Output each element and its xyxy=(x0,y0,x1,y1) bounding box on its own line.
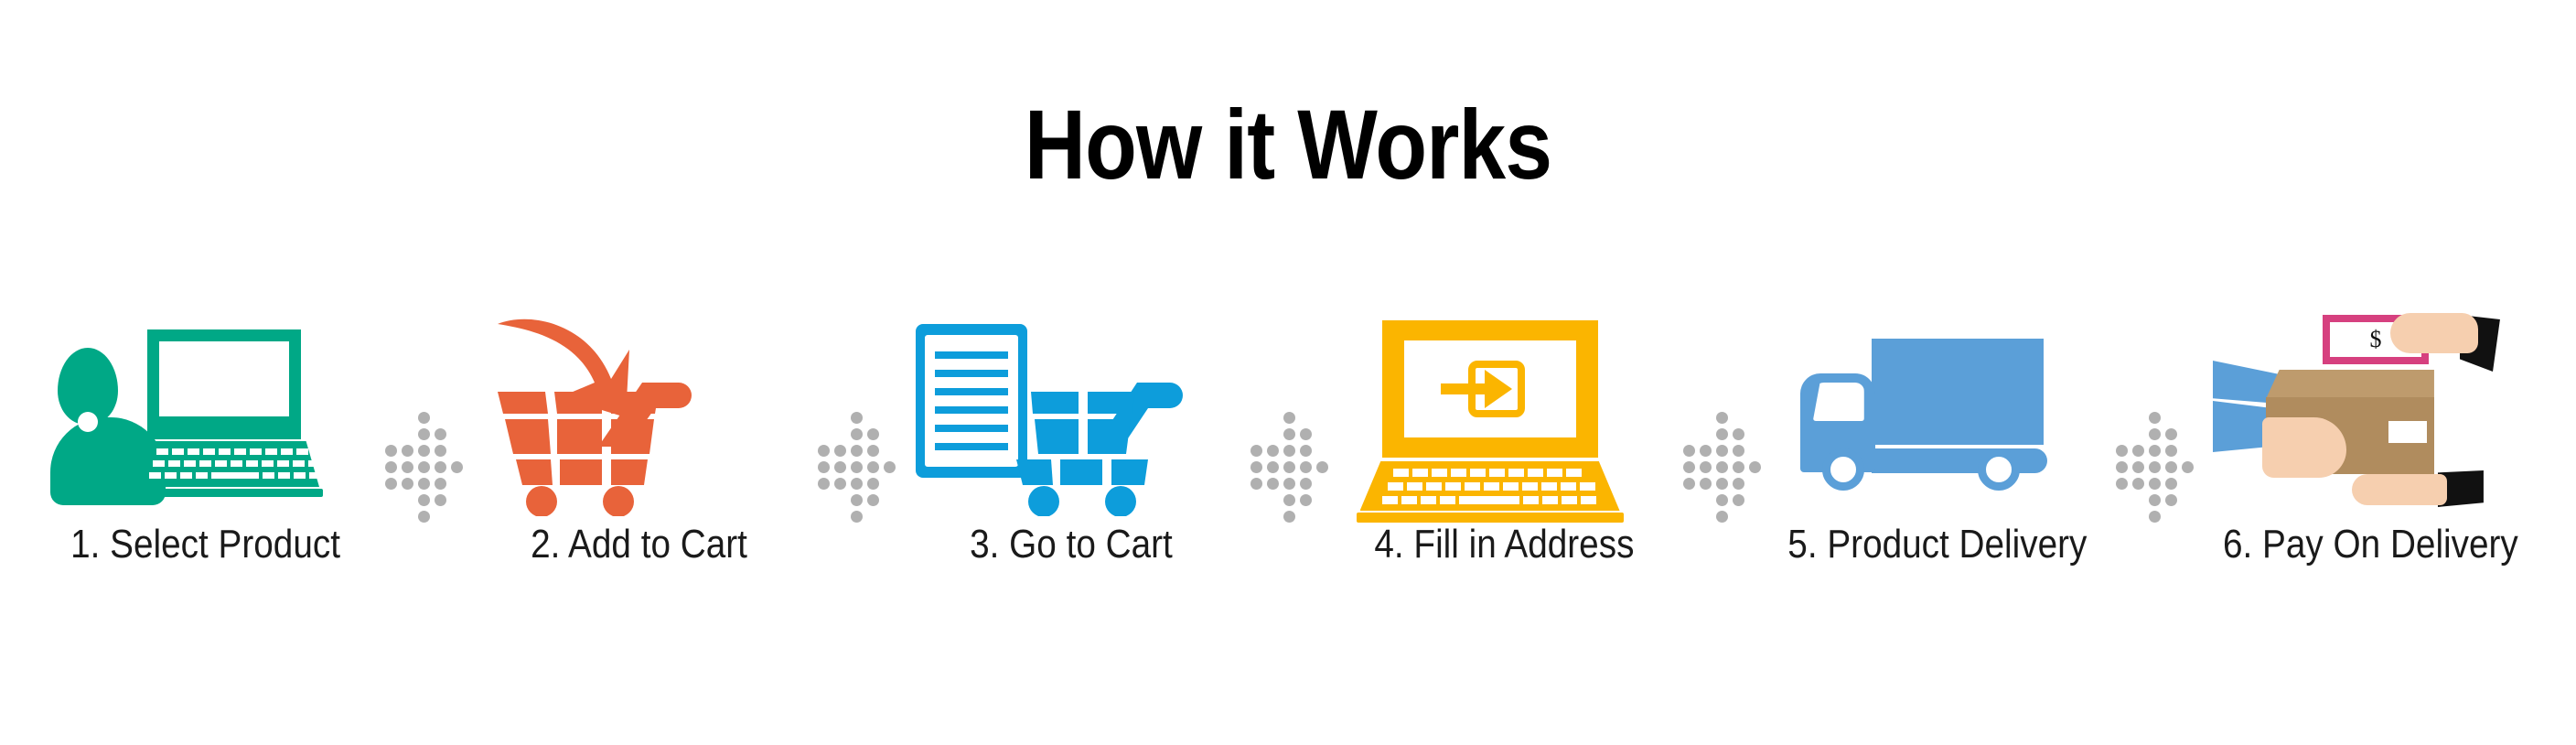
keyboard-row-2 xyxy=(153,460,320,467)
person-laptop-icon xyxy=(50,309,361,520)
keyboard-row-3 xyxy=(1382,496,1596,504)
dotted-arrow-right-icon xyxy=(1254,344,1322,555)
step-label: 2. Add to Cart xyxy=(531,522,747,567)
truck-rear-wheel xyxy=(1978,448,2020,491)
document-text-line xyxy=(935,370,1008,377)
step-pay-on-delivery[interactable]: $ 6. Pay On Delivery xyxy=(2201,309,2539,621)
login-arrow-head xyxy=(1485,370,1512,408)
step-label: 5. Product Delivery xyxy=(1787,522,2087,567)
dotted-arrow-right-icon xyxy=(1687,344,1755,555)
document-text-line xyxy=(935,406,1008,414)
document-text-line xyxy=(935,443,1008,450)
delivery-truck-icon xyxy=(1782,309,2093,520)
step-select-product[interactable]: 1. Select Product xyxy=(37,309,375,621)
keyboard-row-2 xyxy=(1388,482,1595,491)
step-go-to-cart[interactable]: 3. Go to Cart xyxy=(902,309,1240,621)
page-title: How it Works xyxy=(180,95,2396,194)
person-neck-notch xyxy=(78,412,98,432)
document-text-line xyxy=(935,351,1008,359)
truck-window xyxy=(1813,383,1864,421)
shopping-cart-shape xyxy=(1007,377,1190,516)
hands-box-money-icon: $ xyxy=(2215,309,2526,520)
document-text-line xyxy=(935,425,1008,432)
truck-cargo-box xyxy=(1872,339,2044,445)
step-product-delivery[interactable]: 5. Product Delivery xyxy=(1768,309,2107,621)
document-cart-icon xyxy=(916,309,1227,520)
document-text-line xyxy=(935,388,1008,395)
paying-hand xyxy=(2390,313,2478,353)
shopping-cart-shape xyxy=(488,377,699,516)
courier-hand xyxy=(2262,417,2346,478)
step-label: 4. Fill in Address xyxy=(1375,522,1635,567)
laptop-base-edge xyxy=(127,489,323,497)
steps-row: 1. Select Product xyxy=(37,309,2539,621)
dotted-arrow-right-icon xyxy=(821,344,889,555)
laptop-screen-display xyxy=(159,341,289,416)
truck-chassis xyxy=(1872,448,2047,473)
step-label: 6. Pay On Delivery xyxy=(2223,522,2518,567)
step-label: 3. Go to Cart xyxy=(971,522,1174,567)
truck-front-wheel xyxy=(1822,448,1864,491)
keyboard-row-1 xyxy=(156,448,308,455)
receiving-hand xyxy=(2352,474,2447,505)
arrow-into-cart-icon xyxy=(483,309,794,520)
step-add-to-cart[interactable]: 2. Add to Cart xyxy=(469,309,808,621)
laptop-login-icon xyxy=(1349,309,1660,520)
dotted-arrow-right-icon xyxy=(2120,344,2187,555)
step-label: 1. Select Product xyxy=(71,522,341,567)
keyboard-row-3 xyxy=(149,472,321,479)
keyboard-row-1 xyxy=(1393,469,1582,477)
how-it-works-infographic: How it Works xyxy=(0,0,2576,745)
dotted-arrow-right-icon xyxy=(389,344,456,555)
parcel-box-lid xyxy=(2266,370,2434,399)
parcel-shipping-label xyxy=(2388,421,2427,443)
step-fill-in-address[interactable]: 4. Fill in Address xyxy=(1336,309,1674,621)
